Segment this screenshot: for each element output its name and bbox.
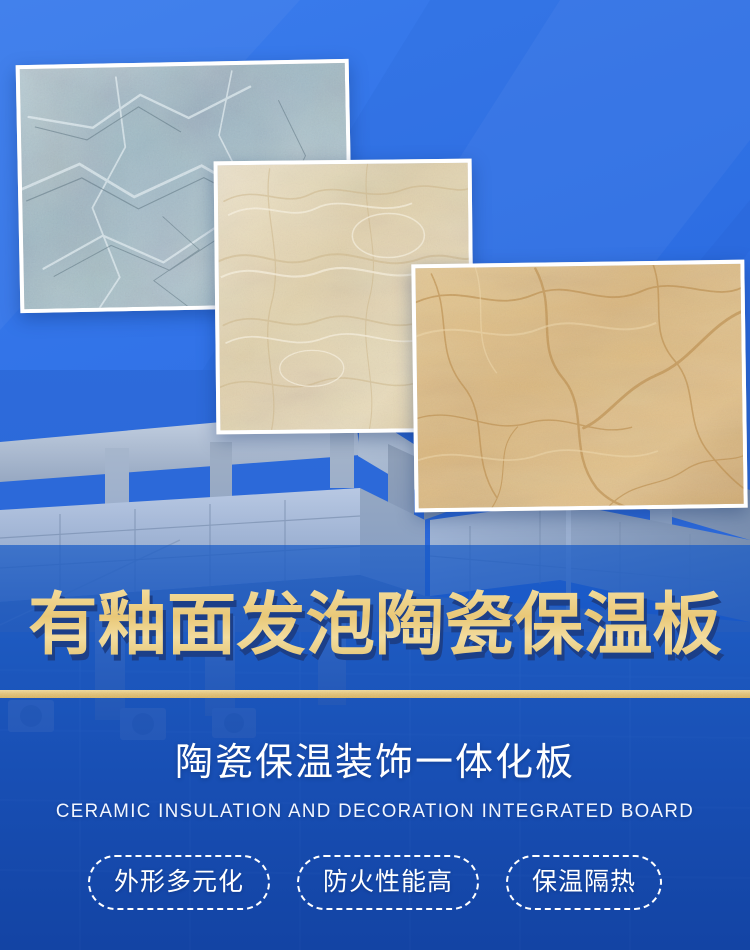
feature-badge-2[interactable]: 防火性能高 — [297, 855, 479, 910]
feature-badge-list: 外形多元化 防火性能高 保温隔热 — [0, 855, 750, 910]
subtitle-english: CERAMIC INSULATION AND DECORATION INTEGR… — [15, 798, 735, 824]
feature-badge-1[interactable]: 外形多元化 — [88, 855, 270, 910]
divider-speckle — [0, 690, 750, 698]
feature-badge-3[interactable]: 保温隔热 — [506, 855, 662, 910]
subtitle-chinese: 陶瓷保温装饰一体化板 — [0, 737, 750, 787]
gold-divider — [0, 690, 750, 698]
main-title-text: 有釉面发泡陶瓷保温板 — [0, 578, 750, 674]
sample-tile-tan-marble[interactable] — [411, 260, 747, 513]
product-banner: 有釉面发泡陶瓷保温板 有釉面发泡陶瓷保温板 陶瓷保温装饰一体化板 CERAMIC… — [0, 0, 750, 950]
tan-marble-texture — [415, 264, 747, 513]
main-title: 有釉面发泡陶瓷保温板 有釉面发泡陶瓷保温板 — [0, 578, 750, 674]
